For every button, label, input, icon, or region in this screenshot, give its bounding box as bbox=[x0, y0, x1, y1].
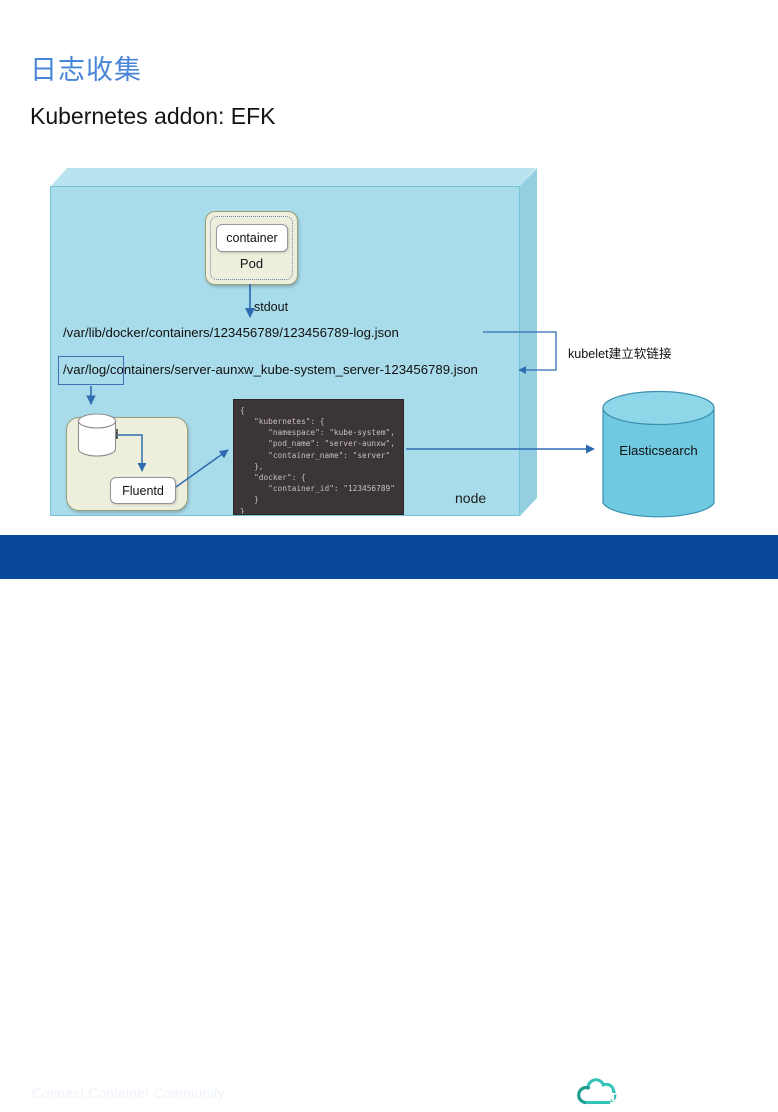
logo-title: CNUTCon2016 bbox=[638, 1078, 768, 1094]
varlog-containers-path: /var/log/containers/server-aunxw_kube-sy… bbox=[63, 362, 478, 377]
logo-mark-text: NUT bbox=[591, 1091, 617, 1104]
elasticsearch-label: Elasticsearch bbox=[601, 443, 716, 458]
logo-subtitle: 全球容器技术大会 bbox=[638, 1097, 768, 1108]
node-label: node bbox=[455, 490, 486, 506]
container-box: container bbox=[216, 224, 288, 252]
cnutcon-logo: NUT CNUTCon2016 全球容器技术大会 bbox=[571, 1074, 761, 1112]
kubelet-symlink-note: kubelet建立软链接 bbox=[568, 343, 672, 362]
stdout-label: stdout bbox=[254, 300, 288, 314]
node-box-top-face bbox=[50, 168, 536, 187]
cloud-logo-icon: NUT bbox=[571, 1076, 631, 1110]
page-subtitle: Kubernetes addon: EFK bbox=[30, 103, 276, 130]
footer-bar: Connect Container Community NUT CNUTCon2… bbox=[0, 535, 778, 579]
footer-tagline: Connect Container Community bbox=[32, 1086, 225, 1101]
cylinder-icon bbox=[77, 413, 117, 457]
logo-text-block: CNUTCon2016 全球容器技术大会 bbox=[638, 1078, 768, 1108]
slide-root: 日志收集 Kubernetes addon: EFK node containe… bbox=[0, 0, 778, 586]
pod-top-label: Pod bbox=[206, 256, 297, 271]
fluentd-box: Fluentd bbox=[110, 477, 176, 504]
pod-top-box: container Pod bbox=[205, 211, 298, 285]
page-title: 日志收集 bbox=[30, 48, 142, 87]
docker-log-path: /var/lib/docker/containers/123456789/123… bbox=[63, 325, 399, 340]
json-log-record: { "kubernetes": { "namespace": "kube-sys… bbox=[233, 399, 404, 515]
node-box-right-face bbox=[520, 168, 537, 516]
